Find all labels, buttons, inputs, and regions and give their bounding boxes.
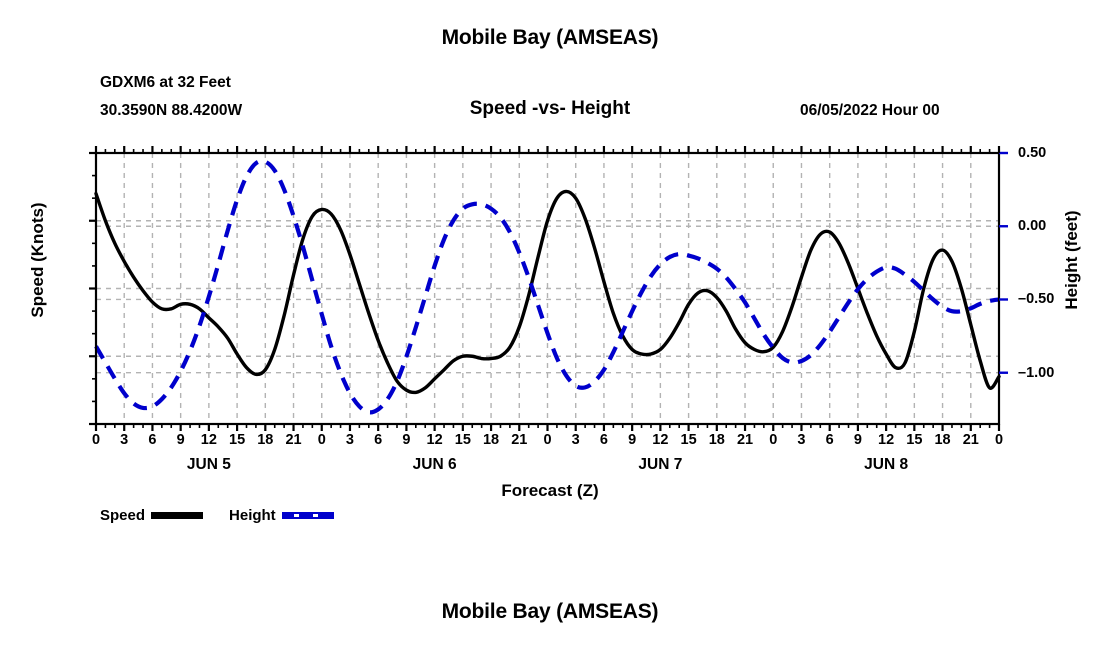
- legend-label-height: Height: [229, 508, 276, 523]
- chart-legend: Speed Height: [100, 508, 334, 523]
- page-title-bottom: Mobile Bay (AMSEAS): [0, 600, 1100, 624]
- chart-plot-area: [0, 0, 1100, 650]
- legend-label-speed: Speed: [100, 508, 145, 523]
- legend-swatch-height-icon: [282, 512, 334, 519]
- legend-swatch-speed-icon: [151, 512, 203, 519]
